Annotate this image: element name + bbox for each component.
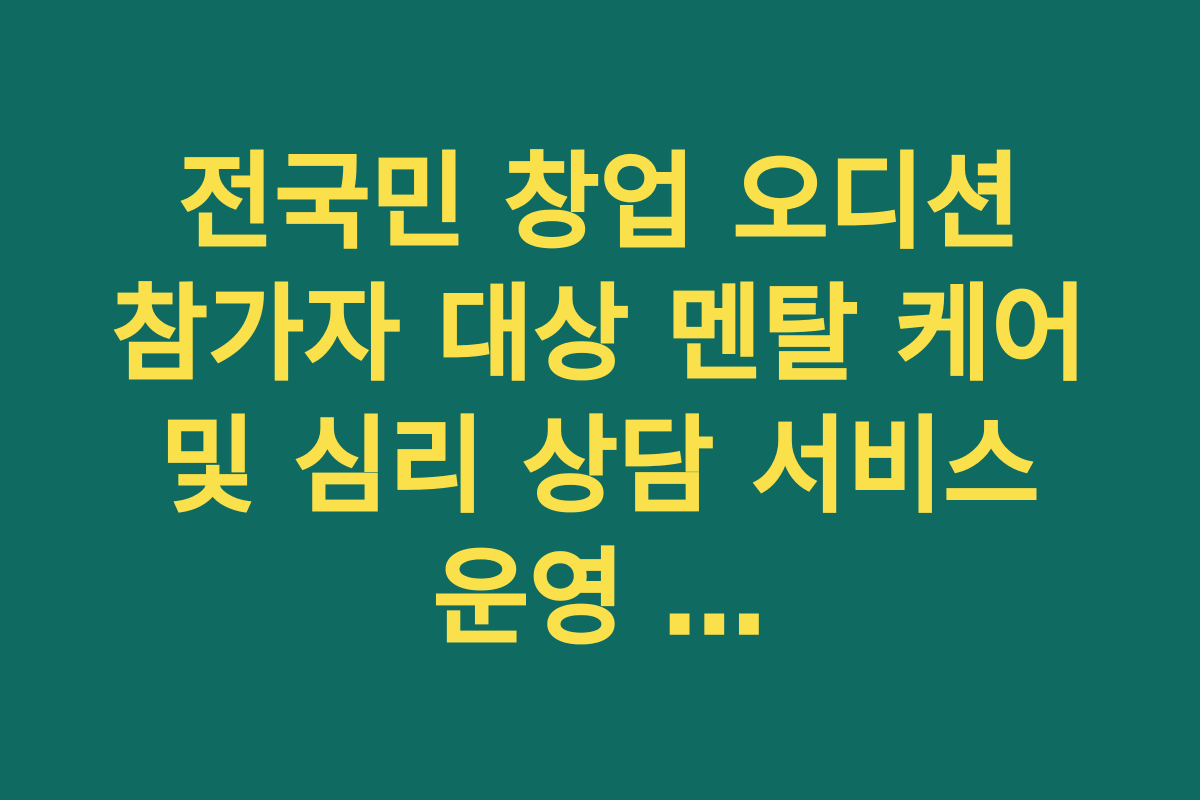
text-card: 전국민 창업 오디션 참가자 대상 멘탈 케어 및 심리 상담 서비스 운영 … <box>0 0 1200 800</box>
headline-text: 전국민 창업 오디션 참가자 대상 멘탈 케어 및 심리 상담 서비스 운영 … <box>70 136 1130 664</box>
headline-block: 전국민 창업 오디션 참가자 대상 멘탈 케어 및 심리 상담 서비스 운영 … <box>70 136 1130 664</box>
